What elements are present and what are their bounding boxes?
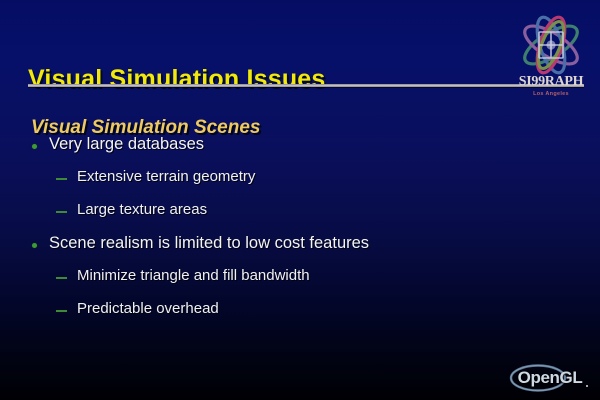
- siggraph-wordmark: SI99RAPH: [508, 74, 594, 90]
- dot-bullet-icon: [32, 144, 37, 149]
- list-item-label: Very large databases: [49, 135, 204, 154]
- opengl-logo: OpenGL: [508, 362, 592, 394]
- list-item: Large texture areas: [0, 201, 600, 234]
- list-item: Predictable overhead: [0, 300, 600, 333]
- list-item-label: Predictable overhead: [77, 300, 219, 317]
- list-item: Scene realism is limited to low cost fea…: [0, 234, 600, 267]
- list-item-label: Scene realism is limited to low cost fea…: [49, 234, 369, 253]
- siggraph-logo: SI99RAPH Los Angeles: [508, 12, 594, 104]
- list-item: Very large databases: [0, 135, 600, 168]
- dash-bullet-icon: [56, 277, 67, 279]
- list-item-label: Minimize triangle and fill bandwidth: [77, 267, 310, 284]
- title-divider-rule: [28, 84, 584, 87]
- dash-bullet-icon: [56, 178, 67, 180]
- dash-bullet-icon: [56, 211, 67, 213]
- opengl-period-mark: [586, 385, 588, 387]
- opengl-wordmark: OpenGL: [508, 362, 592, 394]
- siggraph-swirl-icon: [508, 12, 594, 78]
- presentation-slide: Visual Simulation Issues Visual Simulati…: [0, 0, 600, 400]
- siggraph-city-label: Los Angeles: [508, 91, 594, 97]
- list-item: Extensive terrain geometry: [0, 168, 600, 201]
- dash-bullet-icon: [56, 310, 67, 312]
- list-item-label: Extensive terrain geometry: [77, 168, 255, 185]
- list-item: Minimize triangle and fill bandwidth: [0, 267, 600, 300]
- slide-title: Visual Simulation Issues: [28, 65, 326, 94]
- bullet-list: Very large databases Extensive terrain g…: [0, 135, 600, 333]
- list-item-label: Large texture areas: [77, 201, 207, 218]
- dot-bullet-icon: [32, 243, 37, 248]
